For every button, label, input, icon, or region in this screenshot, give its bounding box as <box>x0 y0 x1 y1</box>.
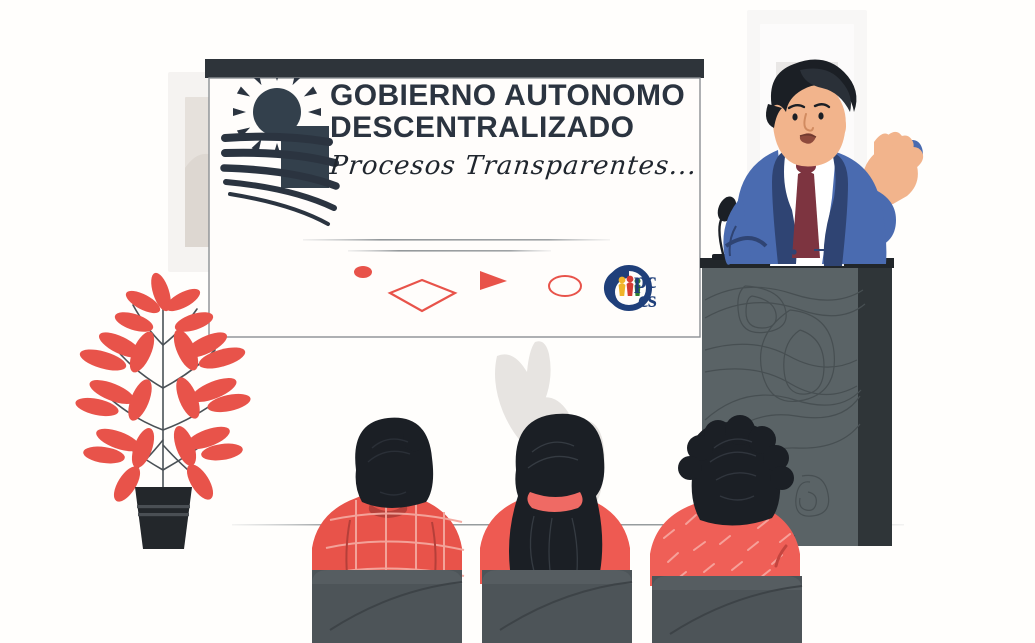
slide-heading-line-2: DESCENTRALIZADO <box>330 112 690 144</box>
slide-tagline: Procesos Transparentes... <box>328 151 691 181</box>
podium-side <box>858 262 892 546</box>
presentation-illustration: GOBIERNO AUTONOMO DESCENTRALIZADO Proces… <box>0 0 1035 643</box>
slide-divider-rule-2 <box>348 250 551 252</box>
cpccs-logo-lettering: pc cs <box>634 272 656 310</box>
slide-divider-rule-1 <box>303 239 610 241</box>
cpccs-lettering-bottom: cs <box>638 291 656 310</box>
screen-mount-bar <box>205 59 704 78</box>
plant-pot <box>135 487 192 549</box>
red-dot-shape <box>354 266 372 278</box>
slide-heading-line-1: GOBIERNO AUTONOMO <box>330 80 690 112</box>
slide-text-block: GOBIERNO AUTONOMO DESCENTRALIZADO Proces… <box>330 80 690 181</box>
